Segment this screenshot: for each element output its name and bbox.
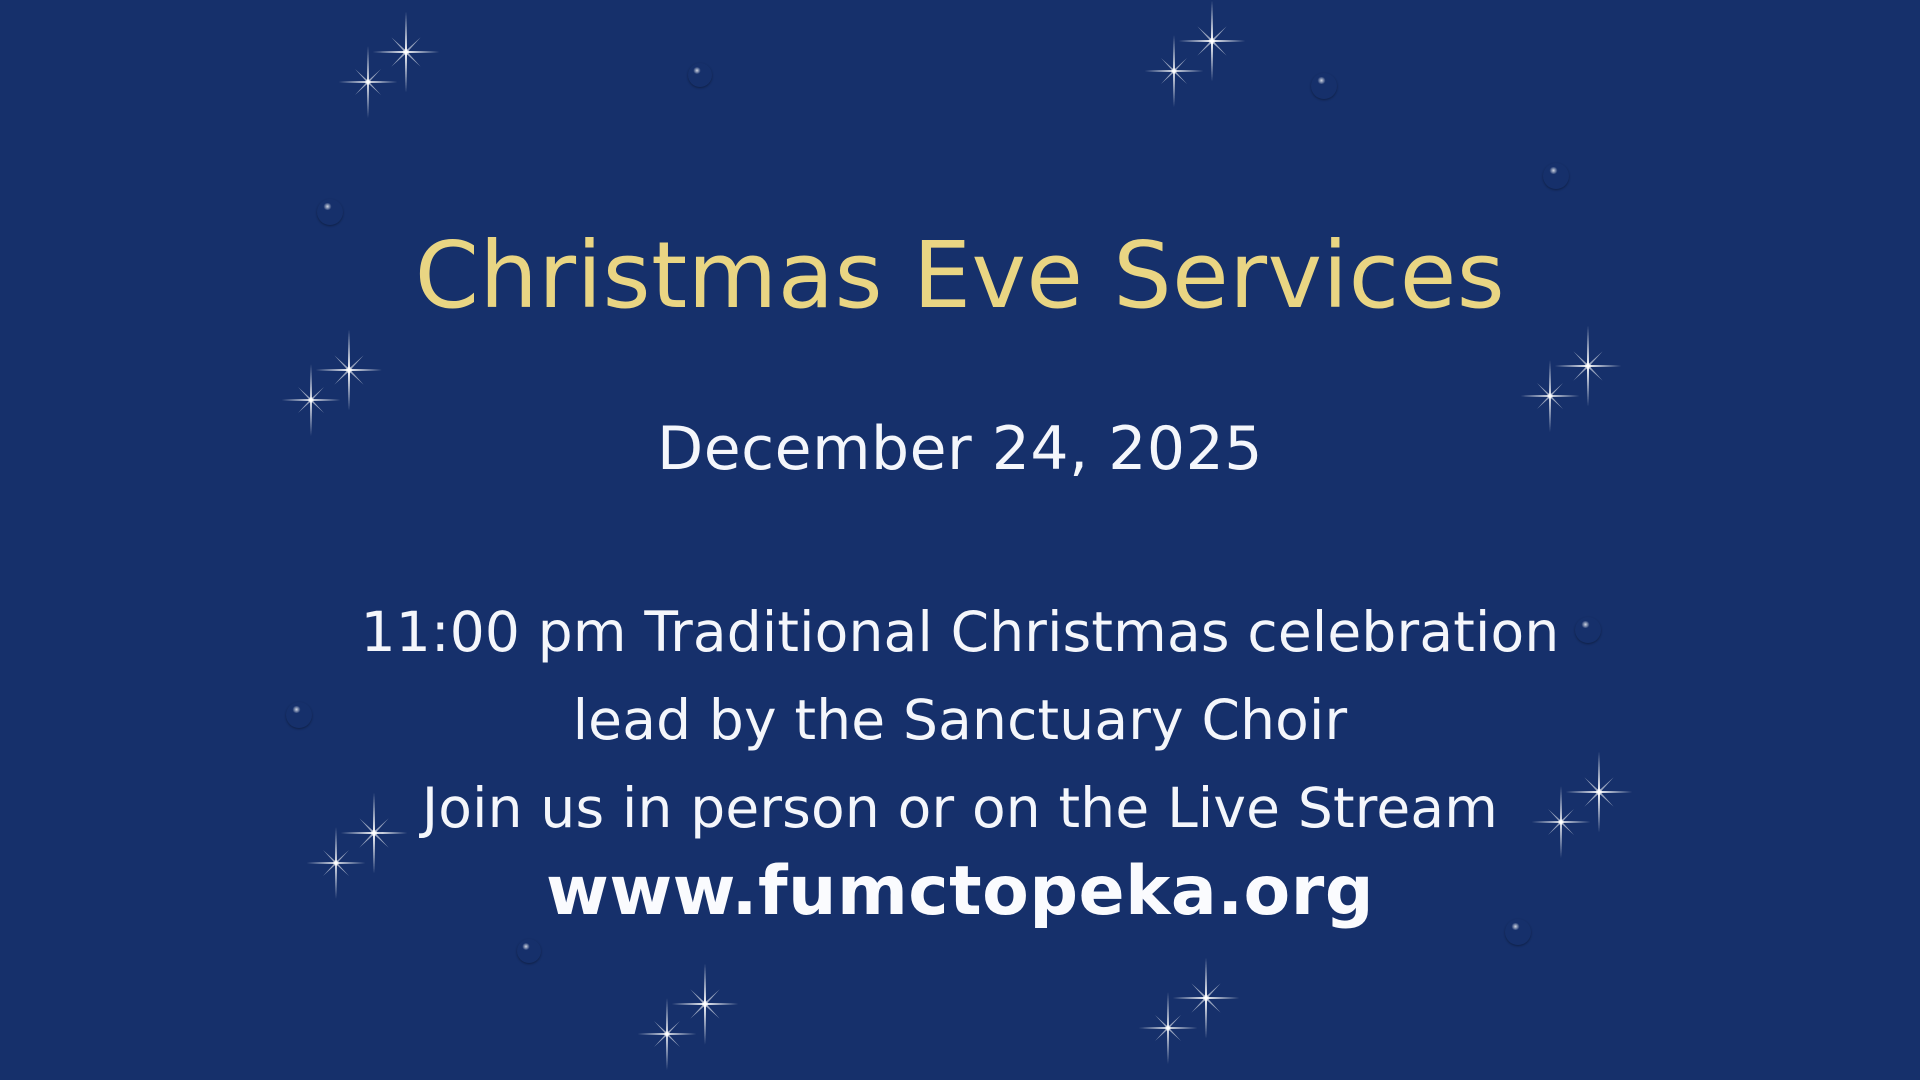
sparkle-star-icon bbox=[659, 958, 750, 1049]
service-detail-line: Join us in person or on the Live Stream bbox=[0, 764, 1920, 852]
gold-dot-bottom-left bbox=[517, 939, 541, 963]
gold-dot-upper-right bbox=[1543, 163, 1569, 189]
gold-dot-top-center bbox=[688, 63, 712, 87]
sparkle-star-icon bbox=[1166, 0, 1257, 87]
service-detail-line: 11:00 pm Traditional Christmas celebrati… bbox=[0, 588, 1920, 676]
christmas-eve-poster: Christmas Eve Services December 24, 2025… bbox=[0, 0, 1920, 1080]
gold-dot-upper-left bbox=[317, 199, 343, 225]
gold-dot-top-right bbox=[1311, 73, 1337, 99]
service-detail-line: lead by the Sanctuary Choir bbox=[0, 676, 1920, 764]
sparkle-star-icon bbox=[303, 324, 394, 415]
sparkle-star-icon bbox=[626, 993, 708, 1075]
sparkle-star-icon bbox=[1127, 987, 1209, 1069]
sparkle-star-icon bbox=[327, 41, 409, 123]
service-details: 11:00 pm Traditional Christmas celebrati… bbox=[0, 588, 1920, 852]
sparkle-star-icon bbox=[1542, 320, 1633, 411]
event-date: December 24, 2025 bbox=[0, 418, 1920, 481]
website-url: www.fumctopeka.org bbox=[0, 856, 1920, 927]
sparkle-star-icon bbox=[1133, 30, 1215, 112]
sparkle-star-icon bbox=[360, 6, 451, 97]
page-title: Christmas Eve Services bbox=[0, 228, 1920, 325]
sparkle-star-icon bbox=[1160, 952, 1251, 1043]
